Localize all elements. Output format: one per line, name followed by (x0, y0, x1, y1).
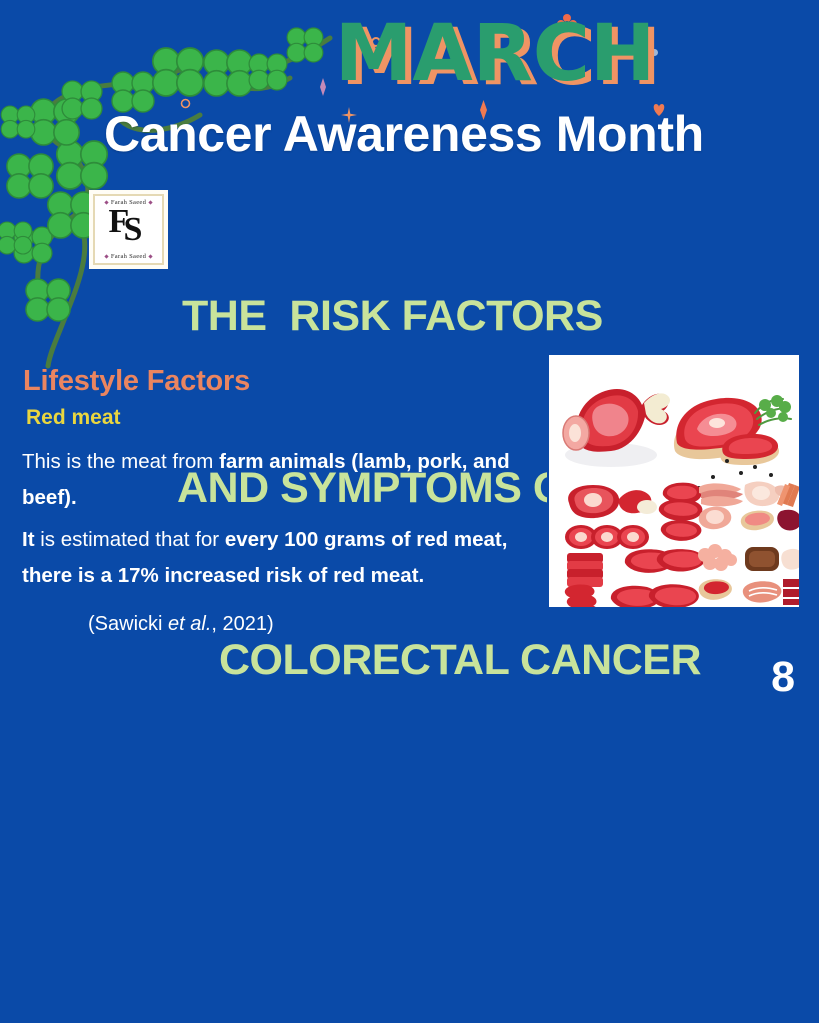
body-text: This is the meat from farm animals (lamb… (22, 444, 542, 594)
page-number: 8 (771, 653, 795, 702)
subheading-line-3: COLORECTAL CANCER (150, 632, 770, 689)
paragraph-1-plain: This is the meat from (22, 450, 219, 473)
logo-initial-s: S (124, 213, 143, 247)
logo-bottom-text: Farah Saeed (111, 253, 146, 260)
subsection-title: Red meat (26, 406, 121, 430)
paragraph-2-plain: is estimated that for (35, 528, 225, 551)
march-title: MARCH MARCH (325, 8, 665, 108)
paragraph-2: It is estimated that for every 100 grams… (22, 522, 542, 594)
paragraph-2-lead: It (22, 528, 35, 551)
logo-initials: F S (105, 211, 153, 249)
slide-canvas: MARCH MARCH Cancer Awareness Month Farah… (0, 0, 819, 1023)
page-title: Cancer Awareness Month (104, 107, 819, 161)
red-meat-illustration (547, 353, 801, 609)
citation-open: (Sawicki (88, 613, 168, 635)
paragraph-1: This is the meat from farm animals (lamb… (22, 444, 542, 516)
logo-diamond-icon (104, 254, 108, 258)
subheading-line-1: THE RISK FACTORS (150, 288, 770, 345)
logo-bottom-label: Farah Saeed (105, 253, 152, 260)
section-title: Lifestyle Factors (23, 365, 250, 398)
citation-close: , 2021) (211, 613, 273, 635)
citation-italic: et al. (168, 613, 211, 635)
march-title-fill: MARCH (335, 9, 656, 99)
citation: (Sawicki et al., 2021) (88, 613, 274, 636)
